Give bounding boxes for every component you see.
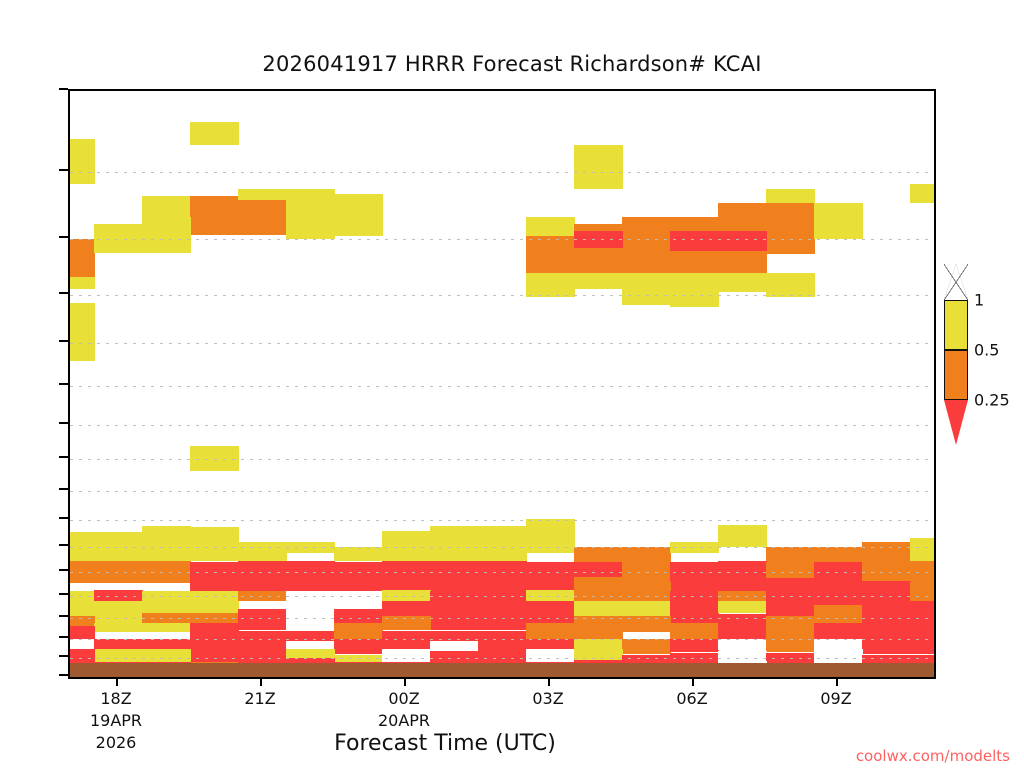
heatmap-cell — [478, 641, 527, 661]
heatmap-cell — [670, 623, 719, 639]
heatmap-cell — [718, 525, 767, 548]
heatmap-cell — [190, 591, 239, 613]
y-axis-tick-mark — [59, 383, 68, 385]
heatmap-cell — [670, 639, 719, 653]
heatmap-cell — [334, 547, 383, 561]
heatmap-cell — [718, 561, 767, 591]
chart-page: 2026041917 HRRR Forecast Richardson# KCA… — [0, 0, 1024, 768]
heatmap-cell — [70, 561, 95, 582]
heatmap-cell — [862, 562, 911, 581]
y-axis-tick-mark — [59, 544, 68, 546]
heatmap-cell — [910, 639, 934, 655]
heatmap-cell — [334, 609, 383, 623]
x-axis-tick-mark — [692, 677, 694, 686]
heatmap-cell — [430, 561, 479, 591]
colorbar-tick-label: 1 — [974, 291, 984, 310]
heatmap-cell — [382, 631, 431, 649]
heatmap-cell — [526, 623, 575, 639]
x-axis-tick-label: 00Z — [388, 689, 419, 708]
heatmap-cell — [382, 590, 431, 601]
heatmap-cell — [766, 562, 815, 578]
colorbar-tick-label: 0.25 — [974, 391, 1010, 410]
heatmap-cell — [190, 196, 239, 235]
y-axis-tick-mark — [59, 674, 68, 676]
heatmap-cell — [238, 641, 287, 663]
heatmap-cell — [70, 639, 95, 649]
heatmap-cell — [622, 639, 671, 655]
x-axis-tick-label: 18Z — [100, 689, 131, 708]
terrain-band — [70, 663, 934, 677]
heatmap-cell — [814, 623, 863, 639]
heatmap-cell — [718, 591, 767, 601]
heatmap-cell — [862, 639, 911, 655]
heatmap-cell — [574, 145, 623, 189]
heatmap-cell — [142, 639, 191, 649]
heatmap-cell — [70, 616, 95, 627]
heatmap-cell — [622, 616, 671, 633]
heatmap-cell — [718, 231, 767, 250]
heatmap-cell — [70, 277, 95, 290]
heatmap-cell — [238, 591, 287, 601]
heatmap-cell — [190, 122, 239, 145]
x-axis-title: Forecast Time (UTC) — [0, 731, 890, 756]
heatmap-cell — [574, 231, 623, 248]
colorbar-segment — [944, 350, 968, 400]
y-axis-tick-mark — [59, 615, 68, 617]
heatmap-cell — [526, 519, 575, 553]
heatmap-cell — [478, 609, 527, 630]
heatmap-cell — [70, 139, 95, 184]
heatmap-cell — [94, 623, 143, 633]
heatmap-cell — [382, 601, 431, 616]
x-axis-tick-label: 09Z — [820, 689, 851, 708]
y-axis-tick-mark — [59, 422, 68, 424]
heatmap-cell — [670, 273, 719, 307]
heatmap-cell — [862, 542, 911, 563]
heatmap-cell — [526, 273, 575, 297]
colorbar-tick-label: 0.5 — [974, 341, 999, 360]
heatmap-cell — [670, 591, 719, 601]
heatmap-cell — [238, 189, 287, 200]
heatmap-cell — [142, 561, 191, 582]
heatmap-cell — [94, 649, 143, 663]
heatmap-cell — [670, 542, 719, 553]
heatmap-cell — [814, 639, 863, 649]
heatmap-cell — [766, 596, 815, 616]
heatmap-cell — [238, 542, 287, 562]
x-axis-tick-label: 06Z — [676, 689, 707, 708]
heatmap-cell — [766, 578, 815, 596]
heatmap-cell — [526, 217, 575, 236]
heatmap-cell — [574, 616, 623, 639]
heatmap-cell — [286, 561, 335, 591]
heatmap-cell — [910, 582, 934, 601]
heatmap-cell — [286, 631, 335, 641]
heatmap-cell — [718, 651, 767, 662]
heatmap-cell — [574, 577, 623, 601]
heatmap-cell — [142, 649, 191, 663]
gridline — [70, 677, 934, 678]
heatmap-cell — [286, 641, 335, 649]
heatmap-cell — [718, 614, 767, 639]
colorbar-segment — [944, 300, 968, 350]
y-axis-tick-mark — [59, 456, 68, 458]
heatmap-cell — [814, 547, 863, 562]
y-axis-tick-mark — [59, 340, 68, 342]
heatmap-cell — [190, 639, 239, 663]
x-axis-tick-mark — [260, 677, 262, 686]
heatmap-cell — [574, 639, 623, 649]
heatmap-cell — [382, 616, 431, 631]
heatmap-cell — [142, 591, 191, 613]
heatmap-cell — [718, 601, 767, 613]
heatmap-cell — [70, 239, 95, 277]
heatmap-cell — [718, 273, 767, 291]
heatmap-cell — [70, 303, 95, 361]
heatmap-cell — [94, 590, 143, 601]
heatmap-cell — [94, 601, 143, 623]
heatmap-cell — [526, 649, 575, 663]
heatmap-cell — [430, 609, 479, 630]
heatmap-cell — [814, 591, 863, 605]
heatmap-cell — [334, 194, 383, 237]
x-axis-tick-mark — [116, 677, 118, 686]
heatmap-cell — [190, 613, 239, 623]
heatmap-cell — [334, 562, 383, 591]
heatmap-cell — [526, 562, 575, 590]
heatmap-cell — [142, 623, 191, 633]
heatmap-cell — [286, 189, 335, 203]
heatmap-plot-area — [68, 89, 936, 679]
heatmap-cell — [766, 547, 815, 562]
heatmap-cell — [862, 601, 911, 616]
heatmap-cell — [70, 626, 95, 638]
x-axis-tick-mark — [404, 677, 406, 686]
watermark: coolwx.com/modelts — [856, 747, 1010, 765]
y-axis-tick-mark — [59, 636, 68, 638]
y-axis-tick-mark — [59, 569, 68, 571]
heatmap-cell — [430, 631, 479, 641]
heatmap-cell — [766, 273, 815, 297]
heatmap-cell — [766, 203, 815, 254]
heatmap-cell — [238, 609, 287, 630]
heatmap-cell — [94, 561, 143, 582]
heatmap-cell — [622, 547, 671, 561]
x-axis-date-label: 19APR — [90, 711, 142, 730]
heatmap-cell — [142, 224, 191, 253]
heatmap-cell — [526, 639, 575, 649]
heatmap-cell — [814, 203, 863, 239]
heatmap-cell — [478, 561, 527, 591]
y-axis-tick-mark — [59, 292, 68, 294]
heatmap-cell — [574, 562, 623, 577]
heatmap-cell — [190, 527, 239, 562]
x-axis-tick-label: 03Z — [532, 689, 563, 708]
heatmap-cell — [622, 601, 671, 616]
y-axis-tick-mark — [59, 236, 68, 238]
heatmap-cell — [910, 601, 934, 623]
heatmap-cell — [334, 623, 383, 639]
heatmap-cell — [142, 613, 191, 623]
heatmap-cell — [526, 236, 575, 273]
y-axis-tick-mark — [59, 88, 68, 90]
heatmap-cell — [286, 649, 335, 659]
heatmap-cell — [382, 561, 431, 591]
heatmap-cell — [766, 189, 815, 203]
heatmap-cell — [94, 532, 143, 561]
heatmap-cell — [670, 601, 719, 623]
heatmap-cell — [334, 655, 383, 663]
heatmap-cell — [382, 649, 431, 663]
heatmap-cell — [622, 217, 671, 273]
heatmap-cell — [766, 616, 815, 639]
heatmap-cell — [430, 526, 479, 562]
heatmap-cell — [526, 590, 575, 601]
heatmap-cell — [238, 561, 287, 591]
x-axis-date-label: 20APR — [378, 711, 430, 730]
heatmap-cell — [142, 526, 191, 562]
heatmap-cell — [622, 582, 671, 601]
heatmap-cell — [910, 538, 934, 563]
heatmap-cell — [910, 561, 934, 581]
heatmap-cell — [526, 601, 575, 623]
heatmap-cell — [382, 531, 431, 561]
heatmap-cell — [670, 231, 719, 250]
x-axis-tick-label: 21Z — [244, 689, 275, 708]
heatmap-cell — [574, 273, 623, 289]
heatmap-cell — [478, 526, 527, 562]
heatmap-cell — [334, 639, 383, 655]
y-axis-tick-mark — [59, 517, 68, 519]
heatmap-cell — [718, 639, 767, 651]
heatmap-cell — [190, 562, 239, 591]
heatmap-cell — [238, 631, 287, 641]
chart-title: 2026041917 HRRR Forecast Richardson# KCA… — [0, 52, 1024, 76]
heatmap-cells — [70, 91, 934, 677]
heatmap-cell — [478, 631, 527, 641]
heatmap-cell — [814, 649, 863, 664]
heatmap-cell — [910, 623, 934, 639]
heatmap-cell — [430, 651, 479, 663]
heatmap-cell — [622, 561, 671, 581]
y-axis-tick-mark — [59, 593, 68, 595]
heatmap-cell — [238, 196, 287, 235]
heatmap-cell — [814, 605, 863, 623]
heatmap-cell — [478, 591, 527, 609]
y-axis-tick-mark — [59, 655, 68, 657]
heatmap-cell — [814, 562, 863, 591]
y-axis-tick-mark — [59, 488, 68, 490]
colorbar-bottom-arrow — [944, 400, 968, 445]
heatmap-cell — [430, 641, 479, 651]
heatmap-cell — [70, 591, 95, 601]
heatmap-cell — [862, 581, 911, 601]
heatmap-cell — [286, 203, 335, 239]
heatmap-cell — [286, 591, 335, 609]
heatmap-cell — [574, 649, 623, 661]
x-axis-tick-mark — [548, 677, 550, 686]
heatmap-cell — [574, 547, 623, 562]
heatmap-cell — [70, 532, 95, 561]
heatmap-cell — [94, 224, 143, 253]
y-axis-tick-mark — [59, 169, 68, 171]
heatmap-cell — [670, 562, 719, 591]
heatmap-cell — [862, 616, 911, 639]
heatmap-cell — [910, 184, 934, 203]
heatmap-cell — [286, 542, 335, 553]
heatmap-cell — [574, 601, 623, 616]
heatmap-cell — [766, 639, 815, 653]
heatmap-cell — [286, 609, 335, 630]
heatmap-cell — [430, 591, 479, 609]
heatmap-cell — [190, 623, 239, 639]
heatmap-cell — [70, 601, 95, 616]
x-axis-tick-mark — [836, 677, 838, 686]
heatmap-cell — [190, 446, 239, 471]
colorbar-top-arrow-outline — [944, 264, 968, 300]
heatmap-cell — [334, 591, 383, 609]
heatmap-cell — [622, 273, 671, 305]
